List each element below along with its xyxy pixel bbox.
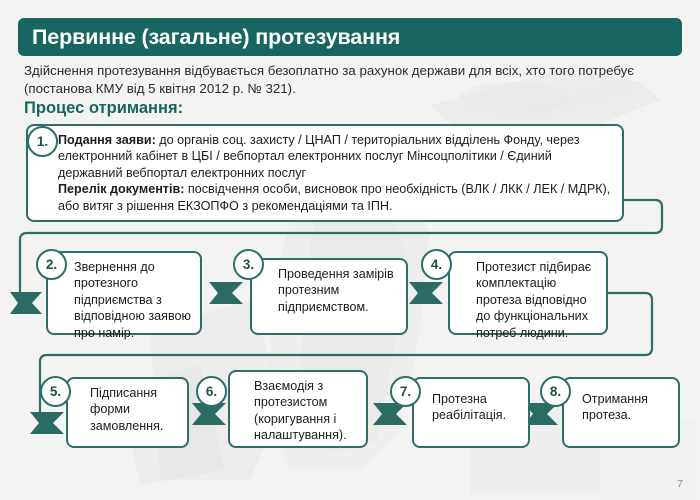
arrow-step-3-to-4 [409, 282, 443, 304]
header-bar: Первинне (загальне) протезування [18, 18, 682, 56]
step-2-text: Звернення до протезного підприємства з в… [74, 259, 194, 341]
step-1-lead-1: Подання заяви: [58, 133, 156, 147]
step-badge-3: 3. [233, 249, 264, 280]
intro-paragraph: Здійснення протезування відбувається без… [24, 62, 664, 97]
step-badge-6: 6. [196, 376, 227, 407]
step-6-text: Взаємодія з протезистом (коригування і н… [254, 378, 360, 444]
step-box-5[interactable]: Підписання форми замовлення. [66, 377, 189, 448]
slide-canvas: Первинне (загальне) протезування Здійсне… [0, 0, 700, 500]
step-badge-5: 5. [40, 376, 71, 407]
step-8-text: Отримання протеза. [582, 391, 672, 424]
step-4-text: Протезист підбирає комплектацію протеза … [476, 259, 600, 341]
step-box-8[interactable]: Отримання протеза. [562, 377, 680, 448]
step-badge-1: 1. [27, 126, 58, 157]
step-box-3[interactable]: Проведення замірів протезним підприємств… [250, 258, 408, 335]
step-1-text: Подання заяви: до органів соц. захисту /… [58, 132, 612, 214]
step-box-7[interactable]: Протезна реабілітація. [412, 377, 530, 448]
section-heading: Процес отримання: [24, 99, 183, 118]
step-box-4[interactable]: Протезист підбирає комплектацію протеза … [448, 251, 608, 335]
arrow-step-2-to-3 [209, 282, 243, 304]
step-badge-2: 2. [36, 249, 67, 280]
step-box-1[interactable]: Подання заяви: до органів соц. захисту /… [26, 124, 624, 222]
step-7-text: Протезна реабілітація. [432, 391, 522, 424]
arrow-into-step-2 [10, 292, 42, 314]
arrow-into-step-5 [30, 412, 64, 434]
page-title: Первинне (загальне) протезування [32, 25, 400, 50]
step-badge-4: 4. [421, 249, 452, 280]
page-number: 7 [677, 478, 683, 490]
step-1-lead-2: Перелік документів: [58, 182, 184, 196]
step-3-text: Проведення замірів протезним підприємств… [278, 266, 400, 315]
step-box-6[interactable]: Взаємодія з протезистом (коригування і н… [228, 370, 368, 448]
step-badge-7: 7. [390, 376, 421, 407]
step-box-2[interactable]: Звернення до протезного підприємства з в… [46, 251, 202, 335]
step-5-text: Підписання форми замовлення. [90, 385, 181, 434]
step-badge-8: 8. [540, 376, 571, 407]
